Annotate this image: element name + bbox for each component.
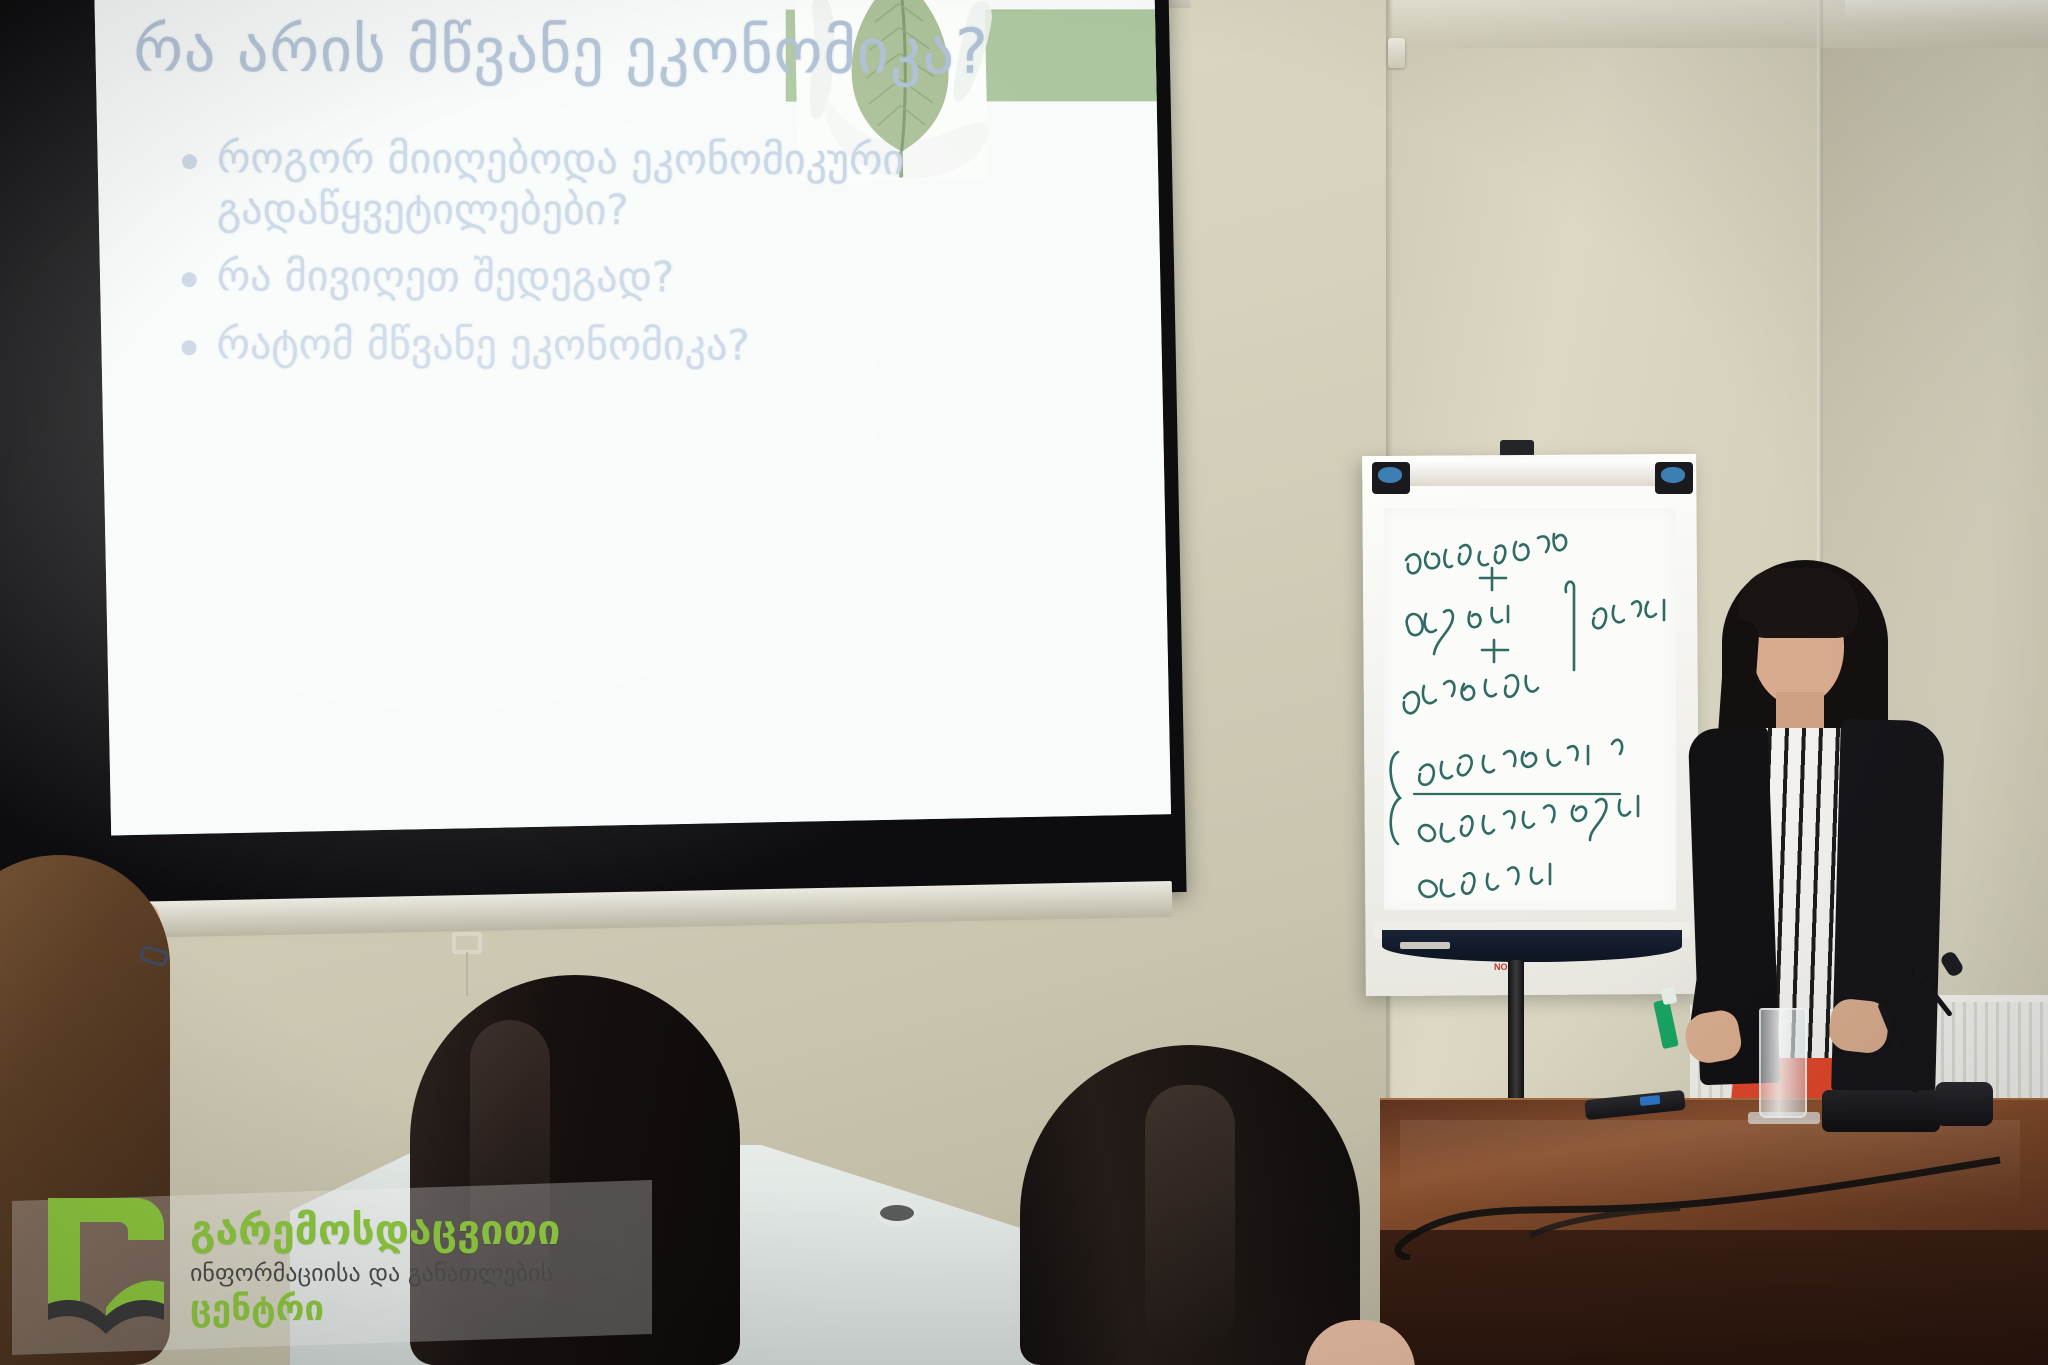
bullet-dot-icon — [182, 340, 197, 355]
bullet-dot-icon — [182, 154, 197, 169]
projector-screen-pull-cord[interactable] — [466, 952, 468, 996]
flipchart-clamp-right[interactable] — [1655, 462, 1693, 494]
watermark-line-1: გარემოსდაცვითი — [190, 1210, 560, 1251]
slide-bullet-2: რა მივიღეთ შედეგად? — [217, 251, 675, 303]
ceiling-panel — [1845, 0, 2048, 26]
projector-screen-surface: რა არის მწვანე ეკონომიკა? როგორ მიიღებოდ… — [94, 0, 1171, 835]
bullet-dot-icon — [182, 273, 197, 288]
projector-screen-pull-handle[interactable] — [452, 932, 482, 954]
smoke-detector-icon — [1388, 38, 1405, 68]
slide-bullet-3: რატომ მწვანე ეკონომიკა? — [216, 318, 749, 371]
flipchart-handwriting — [1384, 508, 1676, 910]
microphone-base[interactable] — [1822, 1090, 1940, 1132]
presentation-slide: რა არის მწვანე ეკონომიკა? როგორ მიიღებოდ… — [94, 0, 1171, 835]
presenter — [1660, 560, 2000, 1120]
green-marker-cap — [1660, 987, 1677, 1006]
audience-member-right-hair-sheen — [1145, 1085, 1235, 1355]
audience-table-cable-grommet — [880, 1205, 914, 1221]
microphone-base-secondary[interactable] — [1935, 1082, 1993, 1126]
flipchart-tray-marker[interactable] — [1400, 942, 1450, 949]
book-and-leaf-logo-icon — [32, 1192, 182, 1342]
drinking-glass — [1759, 1008, 1807, 1118]
flipchart-clamp-left[interactable] — [1372, 462, 1410, 494]
list-item: როგორ მიიღებოდა ეკონომიკური გადაწყვეტილე… — [182, 132, 1042, 237]
list-item: რა მივიღეთ შედეგად? — [182, 251, 1042, 304]
flipchart-paper-roll — [1388, 460, 1674, 486]
slide-bullet-list: როგორ მიიღებოდა ეკონომიკური გადაწყვეტილე… — [181, 132, 1042, 387]
power-cable — [1380, 1150, 2020, 1260]
slide-title: რა არის მწვანე ეკონომიკა? — [133, 17, 1033, 84]
projector-screen-frame: რა არის მწვანე ეკონომიკა? როგორ მიიღებოდ… — [0, 0, 1187, 916]
watermark-line-2: ინფორმაციისა და განათლების — [190, 1260, 560, 1286]
list-item: რატომ მწვანე ეკონომიკა? — [181, 318, 1041, 371]
watermark: გარემოსდაცვითი ინფორმაციისა და განათლები… — [12, 1200, 652, 1350]
watermark-text: გარემოსდაცვითი ინფორმაციისა და განათლები… — [190, 1210, 560, 1327]
slide-bullet-1: როგორ მიიღებოდა ეკონომიკური გადაწყვეტილე… — [217, 132, 1042, 237]
glass-reflection — [1748, 1112, 1820, 1124]
photo-scene: რა არის მწვანე ეკონომიკა? როგორ მიიღებოდ… — [0, 0, 2048, 1365]
flipchart-paper — [1384, 508, 1676, 910]
watermark-line-3: ცენტრი — [190, 1292, 560, 1327]
